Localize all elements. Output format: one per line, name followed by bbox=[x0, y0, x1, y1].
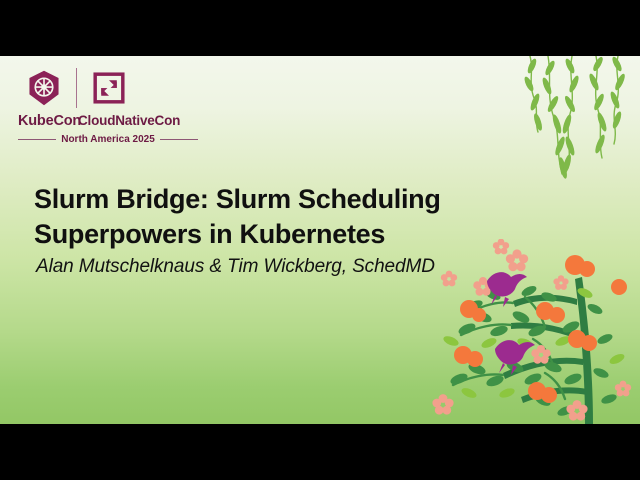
logo-divider bbox=[76, 68, 77, 108]
letterbox-bar-bottom bbox=[0, 424, 640, 480]
willow-branches-illustration bbox=[510, 56, 640, 236]
bird-lower bbox=[495, 340, 535, 375]
kubecon-wordmark: KubeCon bbox=[18, 113, 70, 129]
kubernetes-helm-icon bbox=[18, 65, 70, 111]
letterbox-bar-top bbox=[0, 0, 640, 56]
edition-rule-right bbox=[160, 139, 198, 140]
logo-wordmarks: KubeCon CloudNativeCon bbox=[18, 113, 198, 129]
edition-label: North America 2025 bbox=[56, 134, 160, 145]
logo-marks-row bbox=[18, 64, 198, 112]
presentation-slide: KubeCon CloudNativeCon North America 202… bbox=[0, 56, 640, 424]
cloud-native-square-icon bbox=[83, 65, 135, 111]
logo-edition-row: North America 2025 bbox=[18, 134, 198, 145]
edition-rule-left bbox=[18, 139, 56, 140]
talk-title: Slurm Bridge: Slurm Scheduling Superpowe… bbox=[34, 182, 504, 251]
cloudnativecon-wordmark: CloudNativeCon bbox=[78, 113, 180, 128]
video-frame: KubeCon CloudNativeCon North America 202… bbox=[0, 0, 640, 480]
talk-speakers: Alan Mutschelknaus & Tim Wickberg, Sched… bbox=[36, 256, 526, 278]
kubecon-cloudnativecon-logo: KubeCon CloudNativeCon North America 202… bbox=[18, 64, 198, 145]
